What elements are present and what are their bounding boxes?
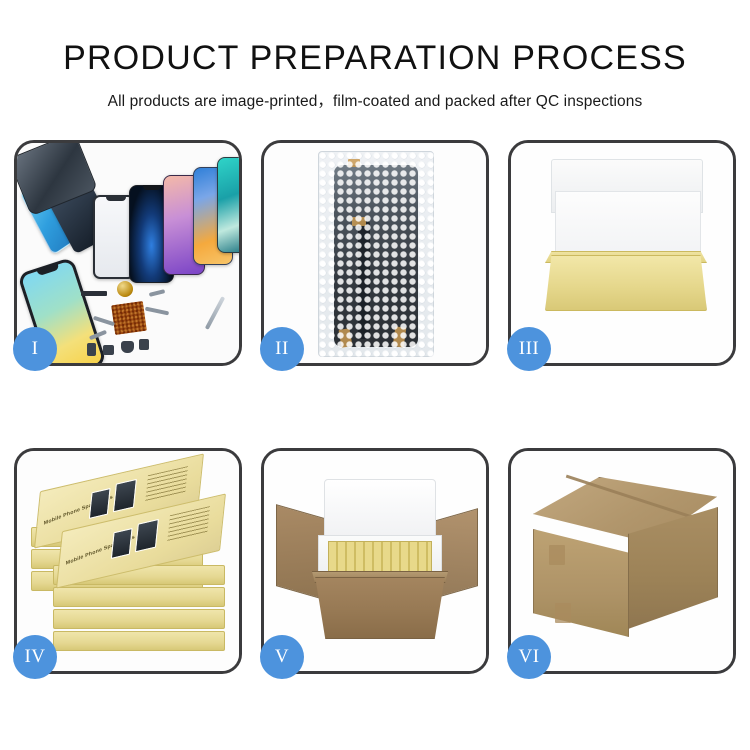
small-part-4-icon	[139, 339, 149, 350]
stacked-box-6	[53, 609, 225, 629]
step-6-image	[511, 451, 733, 671]
speaker-module-icon	[117, 281, 133, 297]
process-step-panel-3: III	[508, 140, 736, 366]
foam-box-lid-icon	[324, 479, 436, 541]
stacked-box-7	[53, 631, 225, 651]
step-badge-3: III	[507, 327, 551, 371]
box-label-screen-swatch-2a	[111, 528, 133, 559]
step-badge-2: II	[260, 327, 304, 371]
yellow-kraft-box-icon	[545, 255, 707, 311]
lcd-screen-assembly-icon	[334, 165, 418, 347]
box-stack-icon: Mobile Phone Spare Parts Mobile Phone Sp…	[25, 465, 235, 661]
page-title: PRODUCT PREPARATION PROCESS	[0, 40, 750, 77]
process-step-panel-5: V	[261, 448, 489, 674]
screen-flex-cable-icon	[358, 221, 370, 339]
battery-connector-icon	[81, 291, 107, 296]
small-part-3-icon	[121, 341, 134, 353]
step-1-image	[17, 143, 239, 363]
flex-cable-4-icon	[149, 289, 165, 297]
process-step-panel-2: II	[261, 140, 489, 366]
stacked-box-5	[53, 587, 225, 607]
step-badge-1: I	[13, 327, 57, 371]
carton-tape-upper-icon	[549, 545, 565, 565]
step-5-image	[264, 451, 486, 671]
tape-tab-top-icon	[348, 159, 360, 167]
tape-tab-mid-icon	[352, 217, 366, 226]
process-step-panel-4: Mobile Phone Spare Parts Mobile Phone Sp…	[14, 448, 242, 674]
screwdriver-icon	[205, 296, 225, 330]
process-step-panel-1: I	[14, 140, 242, 366]
box-label-screen-swatch-1a	[89, 488, 111, 519]
step-4-image: Mobile Phone Spare Parts Mobile Phone Sp…	[17, 451, 239, 671]
box-label-screen-swatch-1b	[113, 479, 137, 513]
page-subtitle: All products are image-printed，film-coat…	[0, 89, 750, 111]
chip-contacts-grid-icon	[111, 301, 147, 335]
process-step-grid: I II III	[14, 140, 736, 674]
step-badge-6: VI	[507, 635, 551, 679]
carton-tape-lower-icon	[555, 603, 571, 623]
carton-front-face-icon	[533, 529, 629, 637]
phone-teal-display-icon	[217, 157, 239, 253]
step-badge-5: V	[260, 635, 304, 679]
box-label-screen-swatch-2b	[135, 519, 159, 553]
step-badge-4: IV	[13, 635, 57, 679]
outer-carton-body-icon	[308, 577, 452, 639]
box-label-spec-lines-2	[167, 506, 210, 542]
header: PRODUCT PREPARATION PROCESS All products…	[0, 40, 750, 111]
product-preparation-infographic: PRODUCT PREPARATION PROCESS All products…	[0, 0, 750, 750]
flex-cable-3-icon	[145, 307, 169, 316]
small-part-2-icon	[103, 345, 114, 355]
step-3-image	[511, 143, 733, 363]
box-label-spec-lines-1	[145, 466, 188, 502]
process-step-panel-6: VI	[508, 448, 736, 674]
small-part-1-icon	[87, 343, 96, 356]
step-2-image	[264, 143, 486, 363]
